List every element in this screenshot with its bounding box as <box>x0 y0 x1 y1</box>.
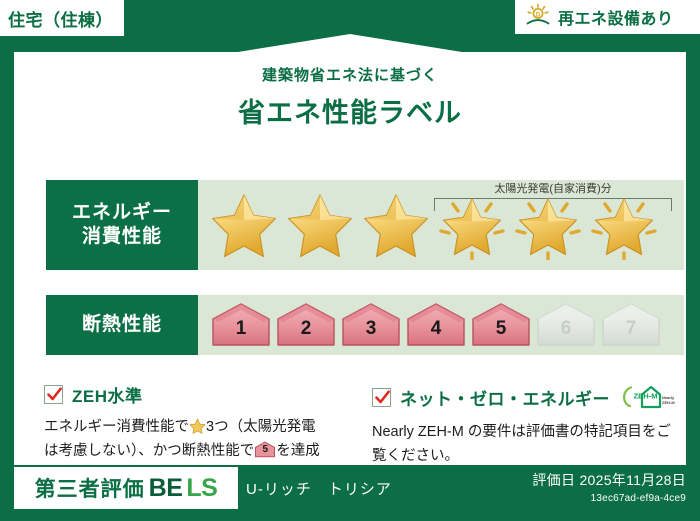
net-zero-energy-title: ネット・ゼロ・エネルギー <box>400 385 610 410</box>
energy-performance-body: 太陽光発電(自家消費)分 <box>198 180 684 270</box>
insulation-performance-row: 断熱性能 1 <box>46 295 684 355</box>
title-subtitle: 建築物省エネ法に基づく <box>14 64 686 85</box>
title-block: 建築物省エネ法に基づく 省エネ性能ラベル <box>14 64 686 130</box>
insulation-grade-number: 1 <box>210 319 272 338</box>
insulation-grade-number: 3 <box>340 319 402 338</box>
net-zero-energy-body: Nearly ZEH-M の要件は評価書の特記項目をご覧ください。 <box>372 421 684 469</box>
zeh-standard-body: エネルギー消費性能で3つ（太陽光発電は考慮しない）、かつ断熱性能で5を達成 <box>44 416 344 464</box>
insulation-performance-body: 1 2 3 <box>198 295 684 355</box>
label-card: 建築物省エネ法に基づく 省エネ性能ラベル エネルギー 消費性能 太陽光発電(自家… <box>14 34 686 465</box>
solar-sun-icon: D <box>525 3 551 32</box>
renewable-equipment-badge: D 再エネ設備あり <box>515 0 700 34</box>
insulation-performance-label: 断熱性能 <box>46 295 198 355</box>
zeh-standard-header: ZEH水準 <box>44 382 344 407</box>
house-icon-inline: 5 <box>254 441 276 458</box>
star-rating <box>198 190 660 260</box>
evaluation-id: 13ec67ad-ef9a-4ce9 <box>532 493 686 504</box>
evaluation-date: 評価日 2025年11月28日 <box>532 470 686 490</box>
label-page: 住宅（住棟） D 再エネ設備あり 建築物省エネ法に基づく 省エネ性能ラベル <box>0 0 700 521</box>
insulation-grade-item: 4 <box>405 302 467 348</box>
insulation-grade-number: 2 <box>275 319 337 338</box>
insulation-grade-item: 6 <box>535 302 597 348</box>
housing-type-tab: 住宅（住棟） <box>0 0 124 36</box>
zeh-m-logo-icon: ZEH-M Nearly ZEH-M <box>619 382 675 412</box>
zeh-m-logo-text: ZEH-M <box>634 392 658 401</box>
insulation-grade-item: 7 <box>600 302 662 348</box>
insulation-grade-number: 7 <box>600 319 662 338</box>
energy-performance-label: エネルギー 消費性能 <box>46 180 198 270</box>
bels-logo-part1: BE <box>149 474 183 503</box>
insulation-grade-number: 4 <box>405 319 467 338</box>
insulation-grade-item: 1 <box>210 302 272 348</box>
net-zero-energy-checkbox[interactable] <box>372 388 391 407</box>
building-name: U-リッチ トリシア <box>246 478 392 499</box>
housing-type-label: 住宅（住棟） <box>8 6 113 31</box>
svg-text:ZEH-M: ZEH-M <box>662 400 675 405</box>
renewable-equipment-label: 再エネ設備あり <box>558 5 674 29</box>
zeh-standard-checkbox[interactable] <box>44 385 63 404</box>
star-filled-solar <box>512 190 584 260</box>
net-zero-energy-section: ネット・ゼロ・エネルギー ZEH-M Nearly ZEH-M Nearly Z… <box>372 382 684 469</box>
third-party-eval-label: 第三者評価 <box>35 473 145 503</box>
net-zero-energy-header: ネット・ゼロ・エネルギー ZEH-M Nearly ZEH-M <box>372 382 684 412</box>
star-filled-solar <box>436 190 508 260</box>
bels-logo-part2: LS <box>186 474 217 503</box>
insulation-grade-item: 5 <box>470 302 532 348</box>
zeh-standard-section: ZEH水準 エネルギー消費性能で3つ（太陽光発電は考慮しない）、かつ断熱性能で5… <box>44 382 344 464</box>
insulation-grade-number: 6 <box>535 319 597 338</box>
star-icon-inline <box>189 418 206 434</box>
star-filled <box>208 190 280 260</box>
evaluation-info: 評価日 2025年11月28日 13ec67ad-ef9a-4ce9 <box>532 470 686 504</box>
zeh-standard-title: ZEH水準 <box>72 382 143 407</box>
insulation-grade-scale: 1 2 3 <box>198 302 662 348</box>
insulation-grade-item: 3 <box>340 302 402 348</box>
star-filled <box>284 190 356 260</box>
page-title: 省エネ性能ラベル <box>14 91 686 130</box>
insulation-grade-number: 5 <box>470 319 532 338</box>
star-filled <box>360 190 432 260</box>
star-filled-solar <box>588 190 660 260</box>
bels-badge: 第三者評価 BELS <box>14 467 238 509</box>
insulation-grade-item: 2 <box>275 302 337 348</box>
energy-performance-row: エネルギー 消費性能 太陽光発電(自家消費)分 <box>46 180 684 270</box>
svg-text:D: D <box>536 12 541 18</box>
